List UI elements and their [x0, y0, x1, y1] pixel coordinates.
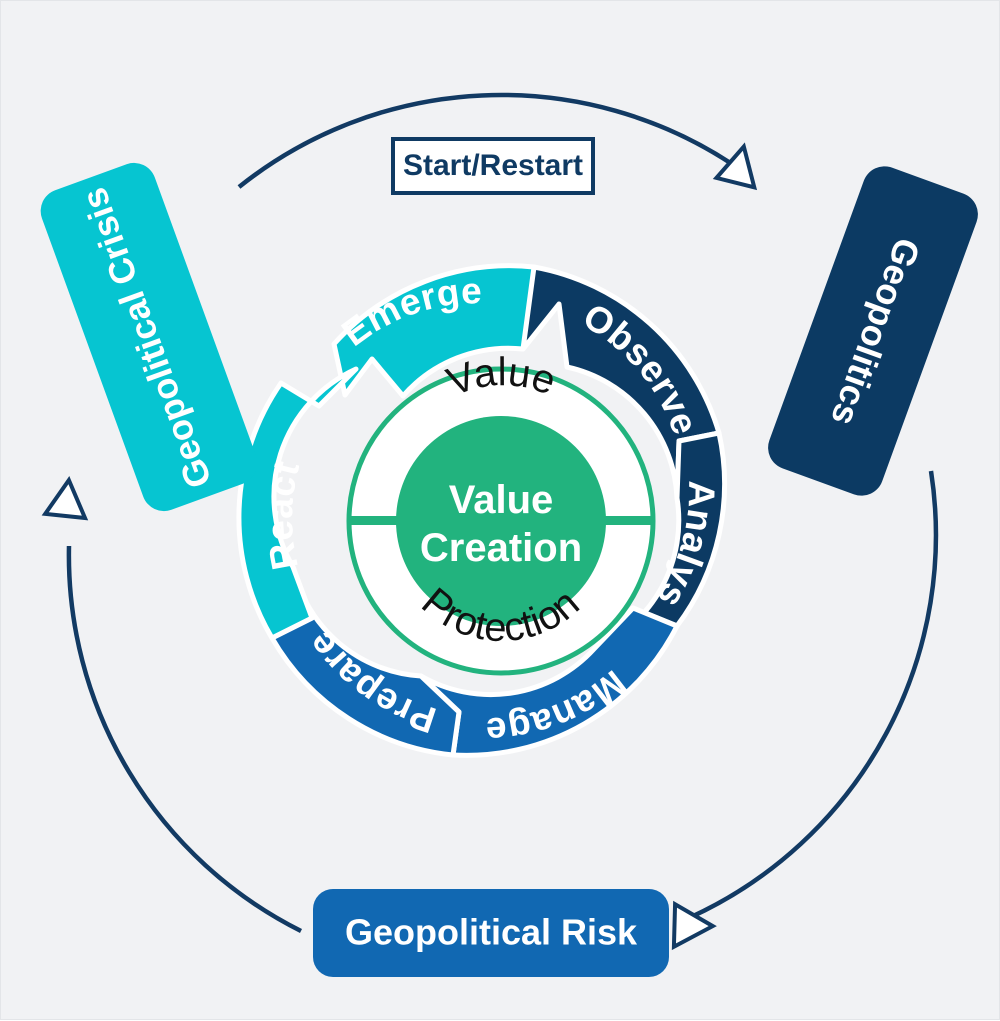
geopolitical-cycle-diagram: Emerge Observe Analyse Manage Prepare Re…	[1, 1, 1000, 1021]
chip-geopolitical-risk[interactable]: Geopolitical Risk	[313, 889, 669, 977]
hub-title-line2: Creation	[420, 526, 582, 570]
cycle-label-react: React	[259, 457, 307, 573]
arrowhead-to-geopolitical-crisis-icon	[45, 478, 89, 518]
hub-title-line1: Value	[449, 478, 554, 522]
hub-tick-left-icon	[350, 516, 400, 525]
start-restart-box[interactable]: Start/Restart	[393, 139, 593, 193]
chip-geopolitical-risk-label: Geopolitical Risk	[345, 912, 638, 953]
arrowhead-to-geopolitics-icon	[716, 142, 763, 187]
arc-geopolitics-to-risk	[691, 471, 936, 917]
value-hub: Value Protection Value Creation	[349, 350, 653, 673]
chip-geopolitics[interactable]: Geopolitics	[762, 160, 984, 502]
hub-tick-right-icon	[602, 516, 652, 525]
diagram-canvas: Emerge Observe Analyse Manage Prepare Re…	[0, 0, 1000, 1020]
start-restart-label: Start/Restart	[403, 149, 583, 182]
chip-geopolitical-crisis[interactable]: Geopolitical Crisis	[34, 157, 263, 518]
